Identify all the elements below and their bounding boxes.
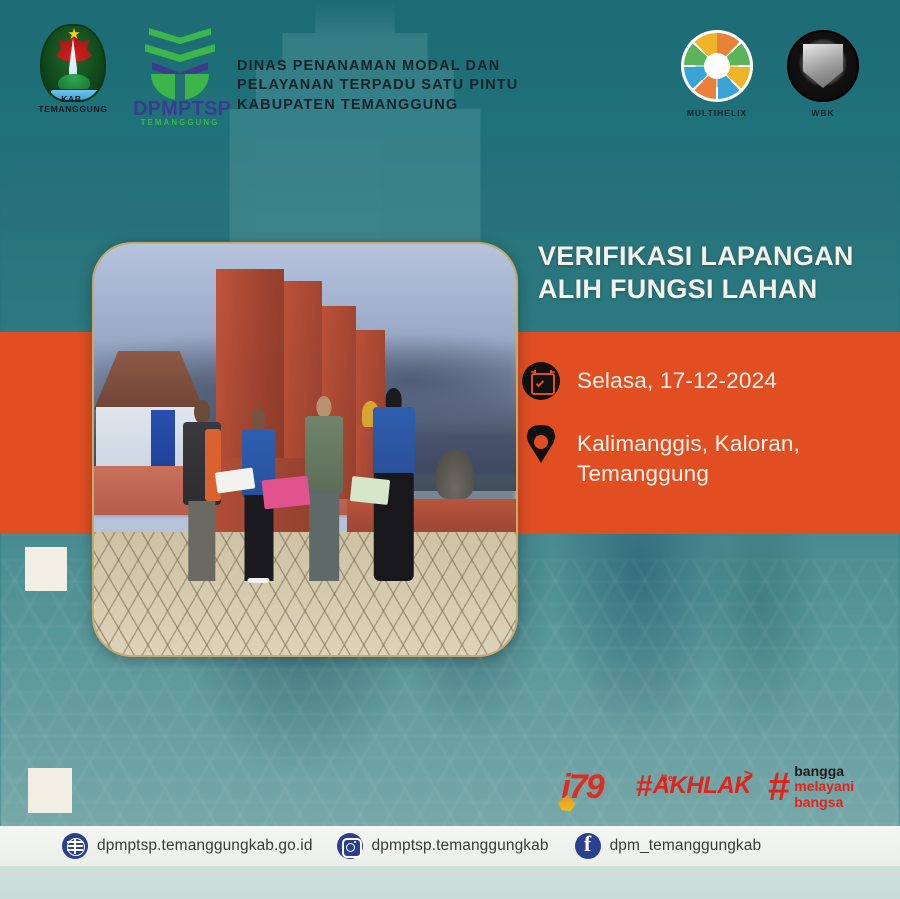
logo-chevron-middle-icon bbox=[145, 44, 215, 62]
decorative-square-bottom bbox=[28, 768, 72, 813]
emblem-shield-icon bbox=[40, 24, 106, 102]
badge-multihelix: MULTIHELIX bbox=[676, 30, 758, 118]
footer-instagram-link[interactable]: dpmptsp.temanggungkab bbox=[337, 833, 549, 859]
event-date-text: Selasa, 17-12-2024 bbox=[577, 362, 777, 396]
footer-bar: dpmptsp.temanggungkab.go.id dpmptsp.tema… bbox=[0, 826, 900, 866]
logo-leaf-gap bbox=[175, 74, 185, 100]
badge-multihelix-label: MULTIHELIX bbox=[676, 108, 758, 118]
bangga-line-2: melayani bbox=[794, 779, 854, 794]
facebook-icon bbox=[575, 833, 601, 859]
kabupaten-temanggung-emblem: KAB. TEMANGGUNG bbox=[34, 22, 112, 114]
event-date-row: Selasa, 17-12-2024 bbox=[522, 362, 894, 400]
photo-document-3 bbox=[350, 476, 390, 504]
multihelix-wheel-icon bbox=[681, 30, 753, 102]
emblem-caption: KAB. TEMANGGUNG bbox=[34, 94, 112, 114]
footer-facebook-label: dpm_temanggungkab bbox=[610, 837, 762, 855]
akhlak-prefix: Ber bbox=[661, 774, 678, 783]
footer-bottom-strip bbox=[0, 866, 900, 899]
akhlak-arrow: > bbox=[744, 768, 753, 784]
photo-dome bbox=[436, 450, 474, 499]
hut-ri-79-label: i79 bbox=[552, 765, 612, 809]
instagram-icon bbox=[337, 833, 363, 859]
bangga-line-1: bangga bbox=[794, 764, 854, 779]
event-location-row: Kalimanggis, Kaloran, Temanggung bbox=[522, 425, 894, 488]
globe-icon bbox=[62, 833, 88, 859]
akhlak-icon: #AKHLAK Ber > bbox=[636, 760, 756, 814]
decorative-square-top bbox=[25, 547, 67, 591]
department-title: DINAS PENANAMAN MODAL DAN PELAYANAN TERP… bbox=[237, 57, 567, 115]
hut-ri-79-icon: i79 bbox=[546, 760, 618, 814]
badge-wbk-label: WBK bbox=[782, 108, 864, 118]
event-photo-card bbox=[92, 242, 518, 657]
partner-logos: i79 #AKHLAK Ber > # bangga melayani bang… bbox=[540, 760, 890, 814]
event-info: Selasa, 17-12-2024 Kalimanggis, Kaloran,… bbox=[522, 362, 894, 513]
logo-chevron-top-icon bbox=[149, 28, 211, 44]
event-location-text: Kalimanggis, Kaloran, Temanggung bbox=[577, 425, 894, 488]
wbk-seal-icon bbox=[787, 30, 859, 102]
calendar-icon bbox=[522, 362, 560, 400]
bangga-hash: # bbox=[768, 769, 790, 805]
badge-wbk: WBK bbox=[782, 30, 864, 118]
bangga-line-3: bangsa bbox=[794, 795, 854, 810]
photo-person-3 bbox=[305, 396, 343, 581]
photo-person-1 bbox=[183, 400, 221, 581]
location-pin-icon bbox=[522, 425, 560, 463]
dpmptsp-logo: DPMPTSP TEMANGGUNG bbox=[133, 26, 227, 126]
poster-header: KAB. TEMANGGUNG DPMPTSP TEMANGGUNG DINAS… bbox=[0, 0, 900, 140]
footer-facebook-link[interactable]: dpm_temanggungkab bbox=[575, 833, 762, 859]
page-title-line-2: ALIH FUNGSI LAHAN bbox=[538, 273, 888, 306]
photo-document-2 bbox=[261, 476, 310, 509]
akhlak-hash: # bbox=[636, 770, 653, 803]
page-title: VERIFIKASI LAPANGAN ALIH FUNGSI LAHAN bbox=[538, 240, 888, 306]
event-photo bbox=[94, 244, 516, 655]
footer-website-link[interactable]: dpmptsp.temanggungkab.go.id bbox=[62, 833, 313, 859]
bangga-melayani-bangsa-icon: # bangga melayani bangsa bbox=[768, 760, 890, 814]
footer-website-label: dpmptsp.temanggungkab.go.id bbox=[97, 837, 313, 855]
footer-instagram-label: dpmptsp.temanggungkab bbox=[372, 837, 549, 855]
page-title-line-1: VERIFIKASI LAPANGAN bbox=[538, 240, 888, 273]
logo-subtitle: TEMANGGUNG bbox=[133, 118, 227, 127]
